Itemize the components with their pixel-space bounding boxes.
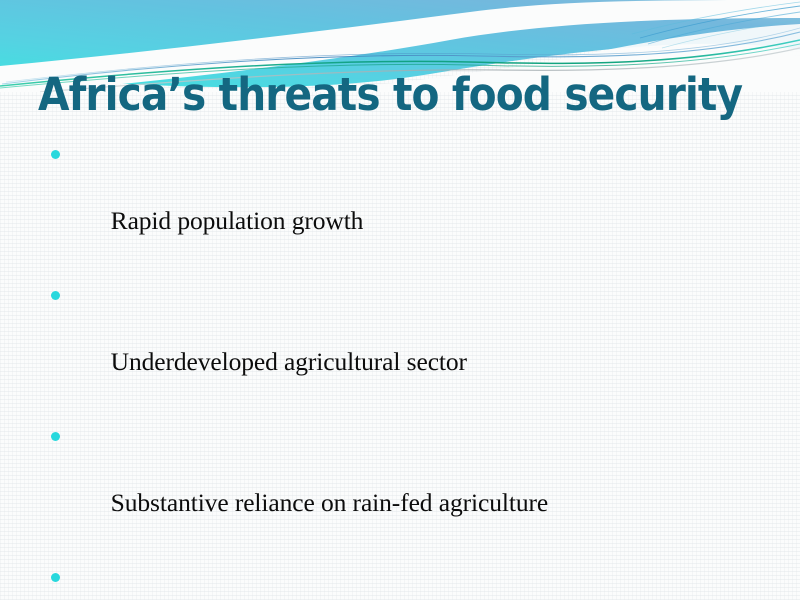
title-block: Africa’s threats to food security [38,68,778,122]
round-bullet-icon [51,573,60,582]
page-title: Africa’s threats to food security [38,68,708,122]
presentation-slide: Africa’s threats to food security Rapid … [0,0,800,600]
list-item[interactable]: Underdeveloped agricultural sector [40,279,760,411]
list-item[interactable]: Rapid population growth [40,138,760,270]
list-item[interactable]: Human displacements [40,561,760,600]
list-item-label: Substantive reliance on rain-fed agricul… [111,488,548,517]
list-item[interactable]: Substantive reliance on rain-fed agricul… [40,420,760,552]
round-bullet-icon [51,432,60,441]
list-item-label: Underdeveloped agricultural sector [111,347,467,376]
list-item-label: Rapid population growth [111,206,364,235]
bullet-list: Rapid population growth Underdeveloped a… [40,138,760,600]
round-bullet-icon [51,291,60,300]
round-bullet-icon [51,150,60,159]
